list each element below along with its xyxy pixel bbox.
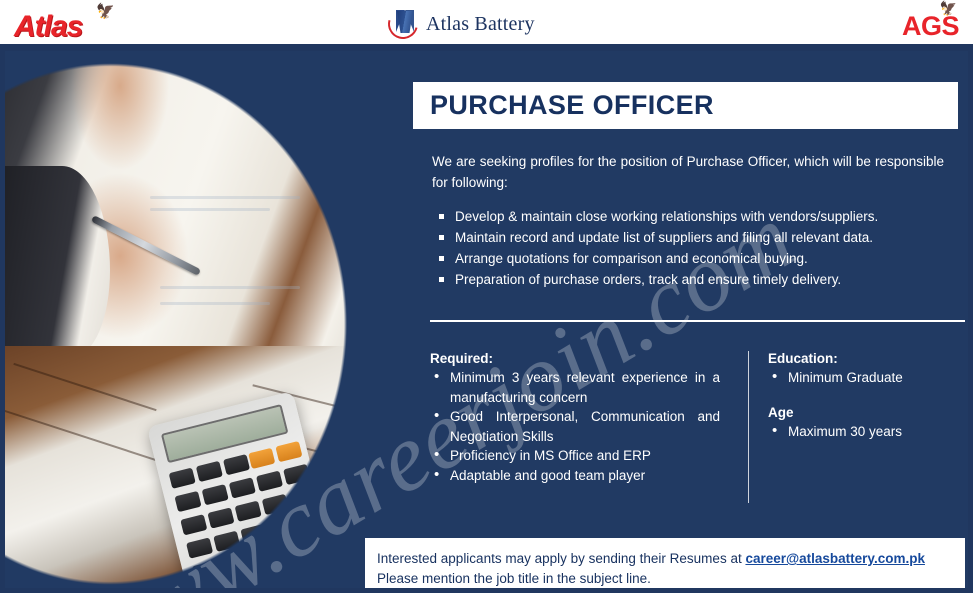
list-item: Preparation of purchase orders, track an… <box>437 270 949 290</box>
education-age-column: Education: Minimum Graduate Age Maximum … <box>768 351 963 441</box>
age-list: Maximum 30 years <box>768 422 963 442</box>
duties-list: Develop & maintain close working relatio… <box>437 207 949 291</box>
job-title: PURCHASE OFFICER <box>430 90 714 121</box>
ags-logo: 🦅 AGS <box>877 4 963 44</box>
required-heading: Required: <box>430 351 720 366</box>
list-item: Develop & maintain close working relatio… <box>437 207 949 227</box>
vertical-divider <box>748 351 749 503</box>
logo-header-bar: 🦅 Atlas Atlas Battery 🦅 AGS <box>0 0 973 46</box>
age-heading: Age <box>768 405 963 420</box>
apply-line-2: Please mention the job title in the subj… <box>377 569 965 589</box>
ags-logo-text: AGS <box>902 11 959 42</box>
atlas-battery-logo-text: Atlas Battery <box>426 13 535 36</box>
atlas-battery-logo: Atlas Battery <box>388 5 535 43</box>
list-item: Arrange quotations for comparison and ec… <box>437 249 949 269</box>
apply-text-prefix: Interested applicants may apply by sendi… <box>377 551 745 566</box>
education-heading: Education: <box>768 351 963 366</box>
apply-instructions-box: Interested applicants may apply by sendi… <box>365 538 965 593</box>
horizontal-divider <box>430 320 965 322</box>
eagle-icon: 🦅 <box>96 4 115 19</box>
battery-wing-icon <box>388 8 422 40</box>
content-area: PURCHASE OFFICER We are seeking profiles… <box>5 51 973 593</box>
list-item: Minimum Graduate <box>768 368 963 388</box>
list-item: Good Interpersonal, Communication and Ne… <box>430 407 720 446</box>
job-title-banner: PURCHASE OFFICER <box>413 82 958 129</box>
atlas-logo: 🦅 Atlas <box>8 4 138 44</box>
job-advertisement-poster: 🦅 Atlas Atlas Battery 🦅 AGS <box>0 0 973 593</box>
job-intro-text: We are seeking profiles for the position… <box>432 151 944 193</box>
education-list: Minimum Graduate <box>768 368 963 388</box>
list-item: Minimum 3 years relevant experience in a… <box>430 368 720 407</box>
list-item: Maintain record and update list of suppl… <box>437 228 949 248</box>
list-item: Proficiency in MS Office and ERP <box>430 446 720 466</box>
apply-line-1: Interested applicants may apply by sendi… <box>377 549 965 569</box>
list-item: Adaptable and good team player <box>430 466 720 486</box>
email-link[interactable]: career@atlasbattery.com.pk <box>745 551 925 566</box>
required-column: Required: Minimum 3 years relevant exper… <box>430 351 720 485</box>
list-item: Maximum 30 years <box>768 422 963 442</box>
required-list: Minimum 3 years relevant experience in a… <box>430 368 720 485</box>
poster-body: www.careerjoin.com PURCHASE OFFICER We a… <box>0 46 973 593</box>
atlas-logo-text: Atlas <box>14 10 82 44</box>
requirements-columns: Required: Minimum 3 years relevant exper… <box>430 351 965 526</box>
